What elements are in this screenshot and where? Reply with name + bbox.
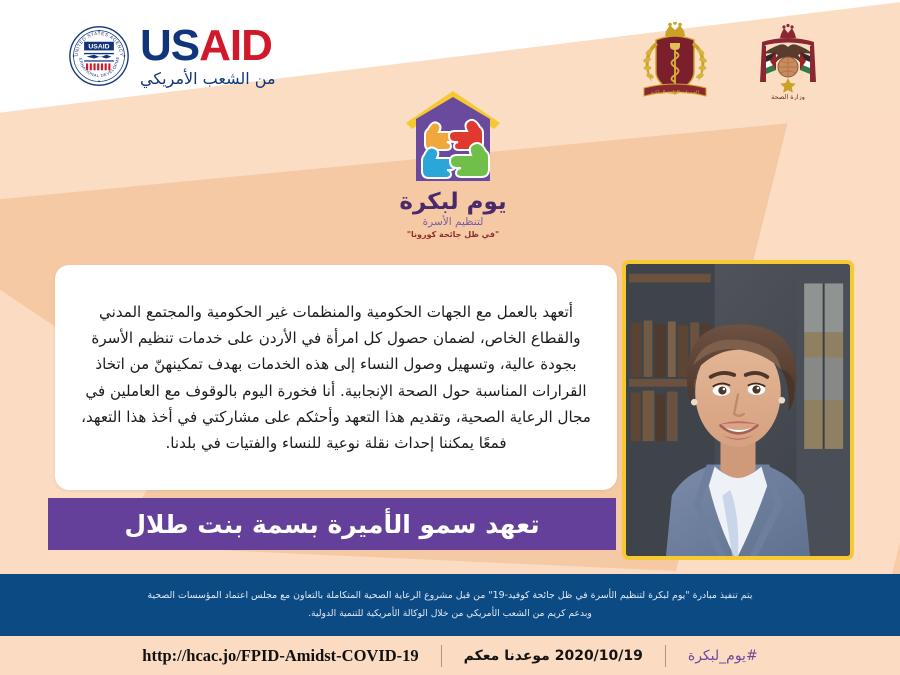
- usaid-tagline: من الشعب الأمريكي: [140, 69, 276, 88]
- usaid-wordmark: USAID من الشعب الأمريكي: [140, 25, 276, 88]
- portrait-illustration: [626, 264, 850, 556]
- pledge-title-banner: تعهد سمو الأميرة بسمة بنت طلال: [48, 498, 616, 550]
- pledge-body-text: أتعهد بالعمل مع الجهات الحكومية والمنظما…: [81, 299, 591, 456]
- campaign-logo-title: يوم لبكرة: [399, 189, 506, 215]
- sponsor-statement-bar: يتم تنفيذ مبادرة "يوم لبكرة لتنظيم الأسر…: [0, 574, 900, 636]
- royal-medical-services-crest: الخدمات الطبية الملكية: [636, 22, 714, 108]
- campaign-logo: يوم لبكرة لتنظيم الأسرة "في ظل جائحة كور…: [383, 83, 523, 239]
- campaign-logo-tagline: "في ظل جائحة كورونا": [407, 230, 499, 239]
- portrait-photo: [622, 260, 854, 560]
- royal-medical-services-icon: الخدمات الطبية الملكية: [636, 22, 714, 104]
- svg-text:وزارة الصحة: وزارة الصحة: [771, 93, 805, 100]
- footer-date-label: 2020/10/19 موعدنا معكم: [442, 648, 665, 664]
- footer-hashtag[interactable]: #يوم_لبكرة: [666, 648, 758, 664]
- sponsor-statement-line-1: يتم تنفيذ مبادرة "يوم لبكرة لتنظيم الأسر…: [148, 590, 753, 602]
- usaid-word-us: US: [140, 21, 199, 70]
- partner-emblems: الخدمات الطبية الملكية: [636, 22, 828, 108]
- footer-bar: http://hcac.jo/FPID-Amidst-COVID-19 2020…: [0, 636, 900, 675]
- pledge-banner-label: تعهد سمو الأميرة بسمة بنت طلال: [124, 510, 539, 539]
- jordan-coat-of-arms-icon: وزارة الصحة: [748, 22, 828, 100]
- house-with-thumbs-up-icon: [388, 83, 518, 191]
- campaign-logo-subtitle: لتنظيم الأسرة: [423, 216, 484, 228]
- footer-url-link[interactable]: http://hcac.jo/FPID-Amidst-COVID-19: [142, 646, 440, 666]
- usaid-word: USAID: [140, 25, 276, 67]
- usaid-word-aid: AID: [199, 21, 272, 70]
- sponsor-statement-line-2: وبدعم كريم من الشعب الأمريكي من خلال الو…: [308, 608, 592, 620]
- svg-text:الخدمات الطبية الملكية: الخدمات الطبية الملكية: [651, 90, 699, 96]
- svg-text:USAID: USAID: [88, 44, 109, 51]
- jordan-ministry-of-health-emblem: وزارة الصحة: [748, 22, 828, 104]
- usaid-logo: UNITED STATES AGENCY INTERNATIONAL DEVEL…: [68, 25, 276, 88]
- poster-canvas: UNITED STATES AGENCY INTERNATIONAL DEVEL…: [0, 0, 900, 675]
- usaid-seal-icon: UNITED STATES AGENCY INTERNATIONAL DEVEL…: [68, 25, 130, 87]
- pledge-card: أتعهد بالعمل مع الجهات الحكومية والمنظما…: [55, 265, 617, 490]
